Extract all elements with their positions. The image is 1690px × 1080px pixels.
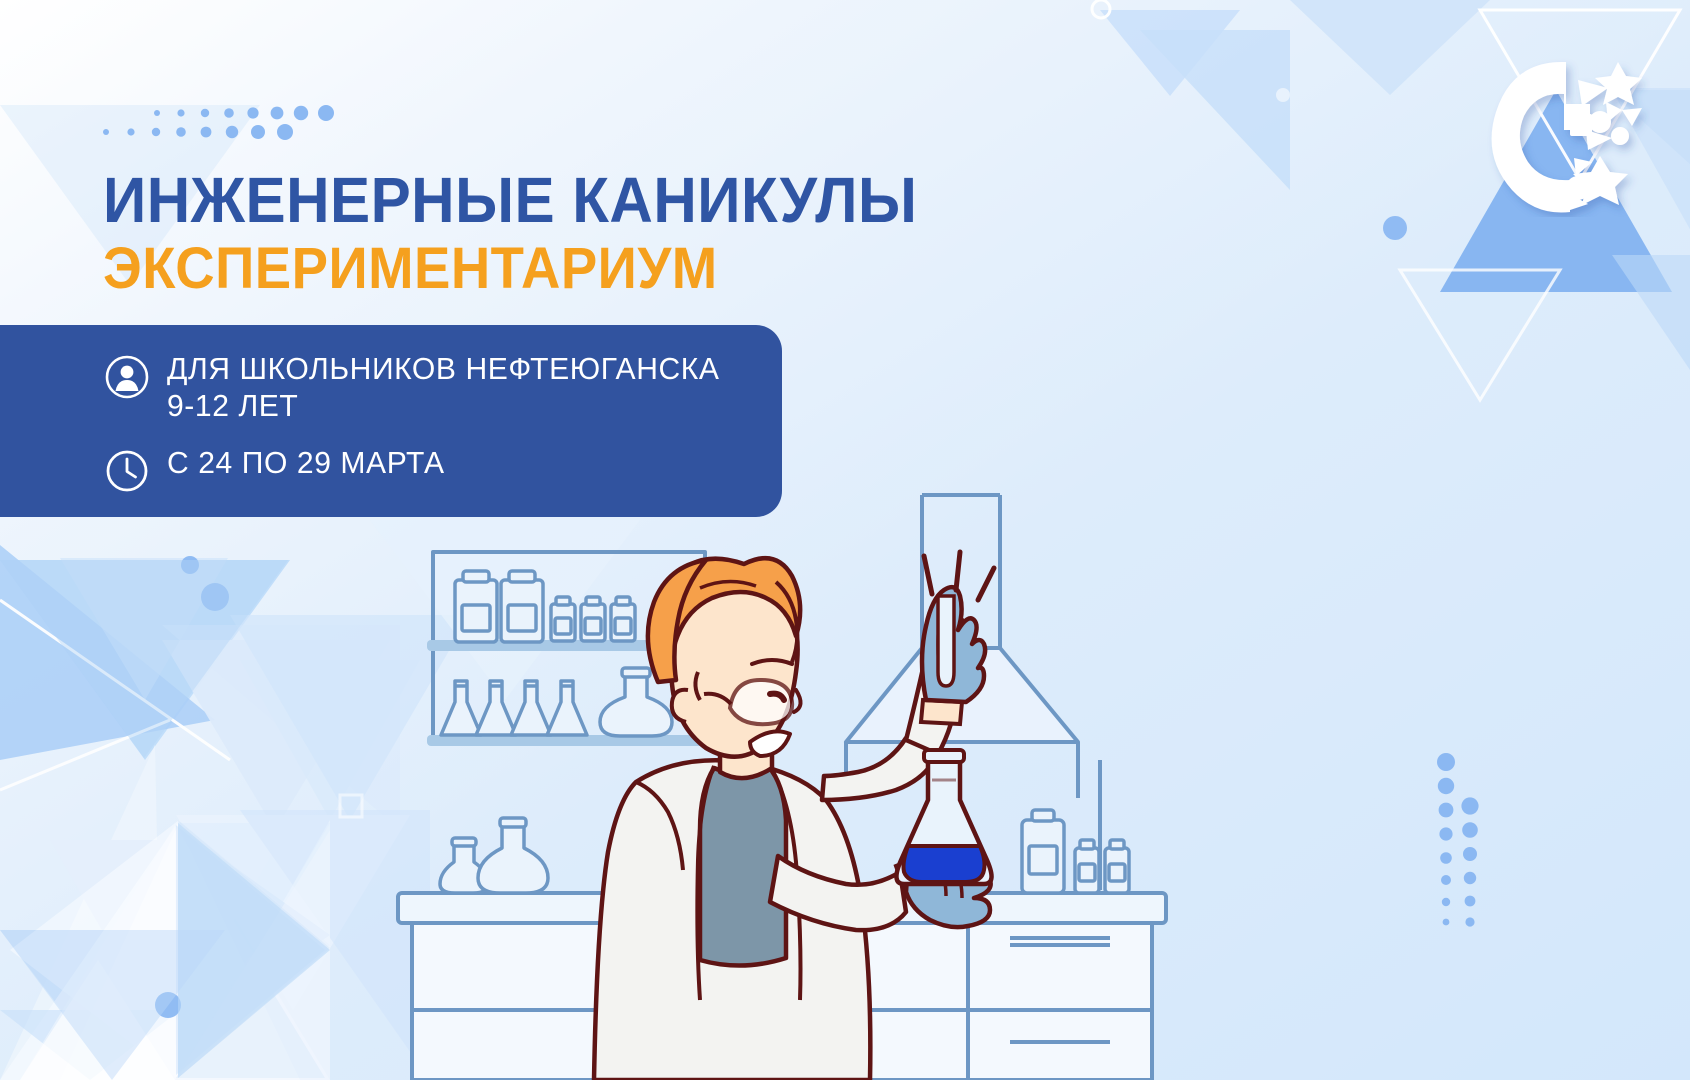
page-title: ИНЖЕНЕРНЫЕ КАНИКУЛЫ bbox=[103, 168, 917, 233]
dates-text: С 24 ПО 29 МАРТА bbox=[167, 445, 445, 482]
clock-icon bbox=[105, 449, 149, 493]
poster-canvas: ИНЖЕНЕРНЫЕ КАНИКУЛЫ ЭКСПЕРИМЕНТАРИУМ ДЛЯ… bbox=[0, 0, 1690, 1080]
info-row-dates: С 24 ПО 29 МАРТА bbox=[105, 445, 453, 493]
info-row-audience: ДЛЯ ШКОЛЬНИКОВ НЕФТЕЮГАНСКА 9-12 ЛЕТ bbox=[105, 351, 737, 424]
page-subtitle: ЭКСПЕРИМЕНТАРИУМ bbox=[103, 239, 917, 300]
title-block: ИНЖЕНЕРНЫЕ КАНИКУЛЫ ЭКСПЕРИМЕНТАРИУМ bbox=[103, 168, 969, 300]
info-panel: ДЛЯ ШКОЛЬНИКОВ НЕФТЕЮГАНСКА 9-12 ЛЕТ С 2… bbox=[0, 325, 782, 517]
person-icon bbox=[105, 355, 149, 399]
audience-text: ДЛЯ ШКОЛЬНИКОВ НЕФТЕЮГАНСКА 9-12 ЛЕТ bbox=[167, 351, 720, 424]
dot-columns-right bbox=[1420, 690, 1540, 930]
sparkle-crescent-logo bbox=[1470, 52, 1650, 217]
dot-grid-top-left bbox=[95, 96, 335, 146]
